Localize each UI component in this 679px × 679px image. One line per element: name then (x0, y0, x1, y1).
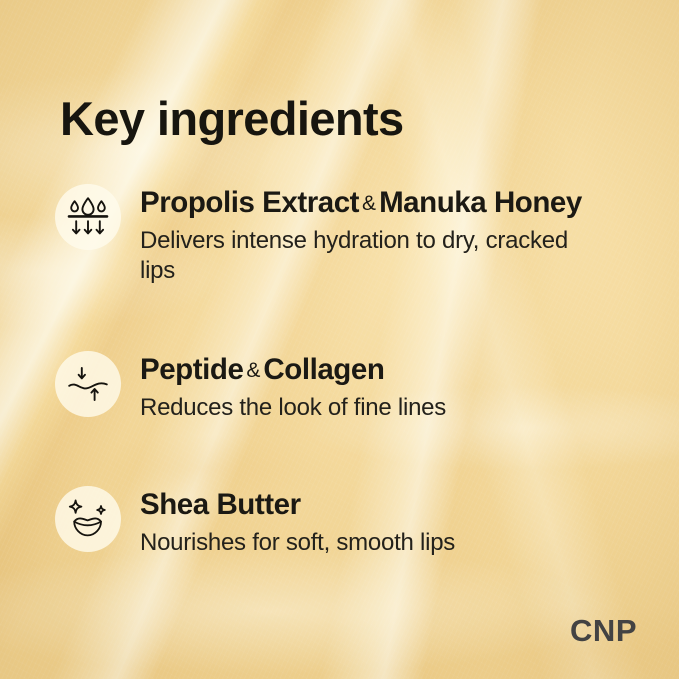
ingredient-name-propolis: Propolis Extract&Manuka Honey (140, 186, 600, 221)
ingredient-name-shea-butter: Shea Butter (140, 488, 455, 523)
ingredient-name-peptide: Peptide&Collagen (140, 353, 446, 388)
ingredient-name-part1: Peptide (140, 353, 243, 386)
ingredient-name-ampersand: & (359, 192, 379, 215)
ingredient-name-ampersand: & (243, 359, 263, 382)
product-infographic: Key ingredients (0, 0, 679, 679)
ingredient-name-part2: Collagen (263, 353, 384, 386)
ingredient-item-shea-butter: Shea Butter Nourishes for soft, smooth l… (55, 486, 655, 558)
ingredient-text-peptide: Peptide&Collagen Reduces the look of fin… (140, 351, 446, 423)
ingredient-name-part1: Propolis Extract (140, 186, 359, 219)
wrinkle-smoothing-wave-icon (55, 351, 121, 417)
ingredient-name-part1: Shea Butter (140, 488, 301, 521)
sparkling-lips-icon (55, 486, 121, 552)
ingredient-item-peptide: Peptide&Collagen Reduces the look of fin… (55, 351, 655, 423)
ingredient-name-part2: Manuka Honey (379, 186, 582, 219)
ingredient-description-shea-butter: Nourishes for soft, smooth lips (140, 528, 455, 558)
ingredient-description-propolis: Delivers intense hydration to dry, crack… (140, 226, 600, 287)
ingredient-item-propolis: Propolis Extract&Manuka Honey Delivers i… (55, 184, 655, 286)
page-title: Key ingredients (60, 94, 404, 143)
content-area: Key ingredients (0, 0, 679, 679)
ingredient-description-peptide: Reduces the look of fine lines (140, 393, 446, 423)
ingredient-text-propolis: Propolis Extract&Manuka Honey Delivers i… (140, 184, 600, 286)
ingredient-text-shea-butter: Shea Butter Nourishes for soft, smooth l… (140, 486, 455, 558)
water-drops-absorb-icon (55, 184, 121, 250)
brand-logo-cnp: CNP (570, 613, 637, 649)
ingredient-name-ampersand (301, 494, 307, 517)
